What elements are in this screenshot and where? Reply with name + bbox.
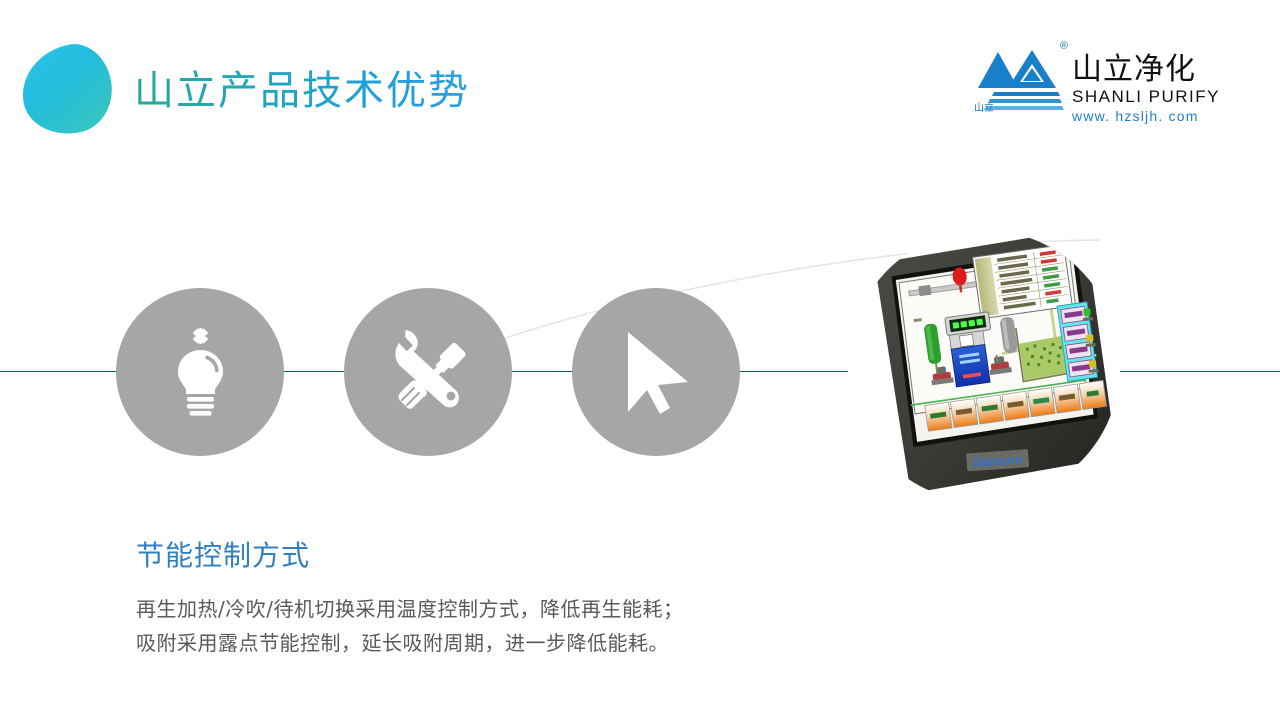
timeline-node-tools[interactable] (344, 288, 512, 456)
mountain-logo-icon: ® 山立 (974, 38, 1066, 116)
cursor-arrow-icon (610, 326, 702, 418)
brand-name-cn: 山立净化 (1072, 54, 1220, 86)
body-line-1: 再生加热/冷吹/待机切换采用温度控制方式，降低再生能耗； (136, 592, 896, 626)
section-body: 再生加热/冷吹/待机切换采用温度控制方式，降低再生能耗； 吸附采用露点节能控制，… (136, 592, 896, 660)
brand-website-url: www. hzsljh. com (1072, 108, 1220, 125)
brand-mark-caption: 山立 (974, 99, 994, 114)
timeline-node-idea[interactable] (116, 288, 284, 456)
registered-trademark-icon: ® (1060, 40, 1068, 52)
wrench-screwdriver-icon (382, 326, 474, 418)
section-heading: 节能控制方式 (136, 538, 310, 574)
slide-root: 山立产品技术优势 ® 山立 山立净化 SHANLI PURIFY www. hz… (0, 0, 1280, 720)
decorative-blob-icon (14, 38, 120, 143)
page-title: 山立产品技术优势 (134, 64, 470, 118)
body-line-2: 吸附采用露点节能控制，延长吸附周期，进一步降低能耗。 (136, 626, 896, 660)
timeline-node-cursor[interactable] (572, 288, 740, 456)
hmi-panel-photo: Samcon (848, 230, 1120, 502)
lightbulb-icon (157, 326, 243, 418)
brand-name-en: SHANLI PURIFY (1072, 87, 1220, 107)
brand-logo: ® 山立 山立净化 SHANLI PURIFY www. hzsljh. com (974, 38, 1220, 125)
